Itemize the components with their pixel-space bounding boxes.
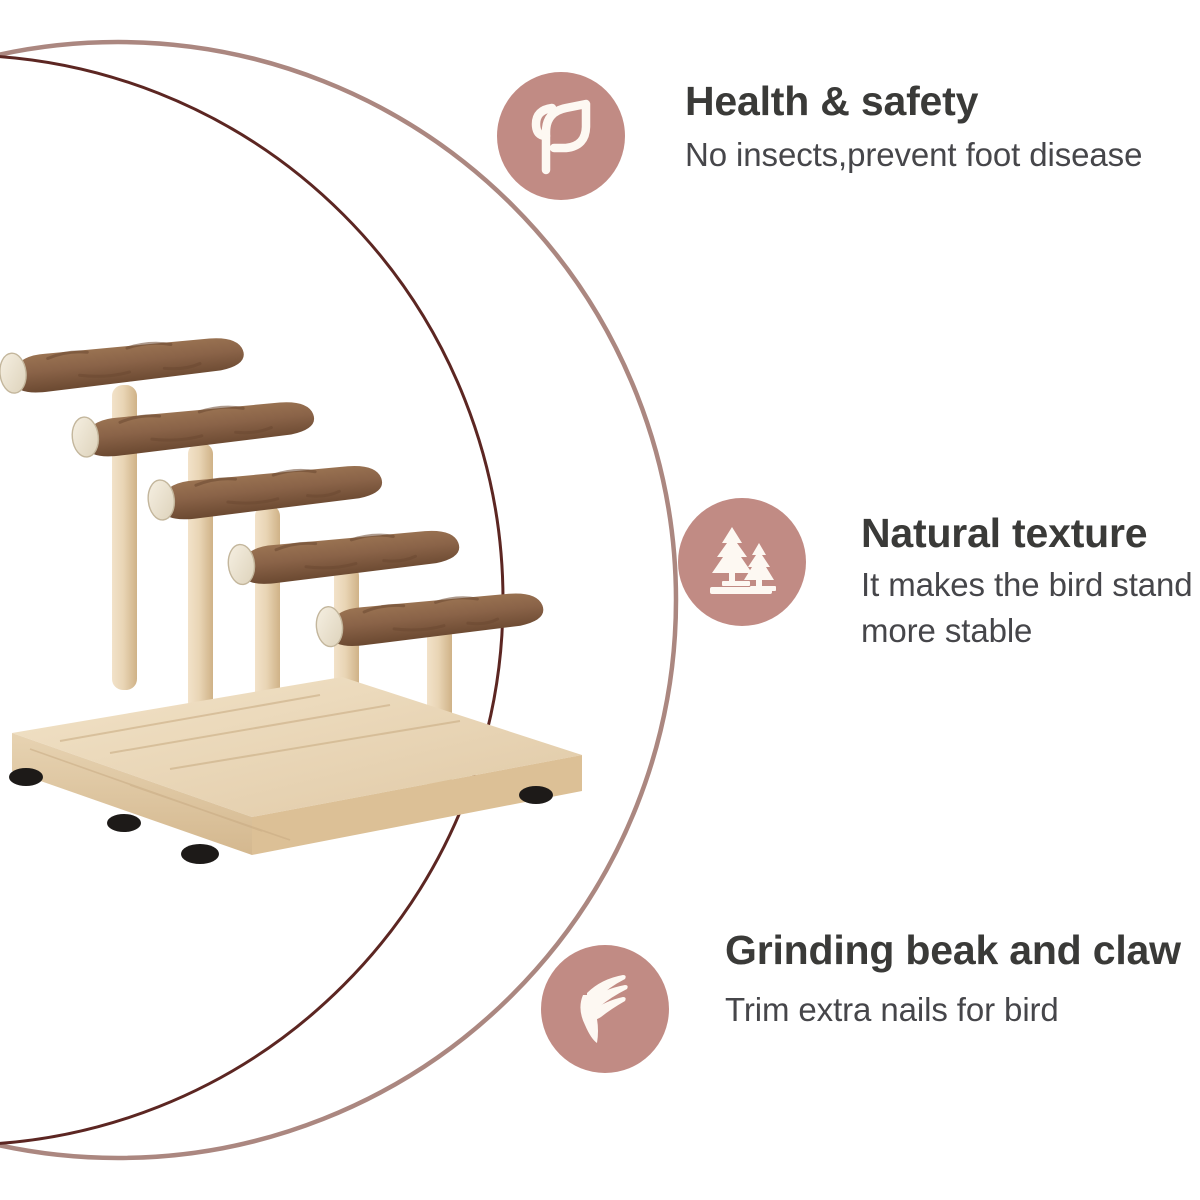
feature-description: No insects,prevent foot disease xyxy=(685,132,1142,178)
feature-title: Health & safety xyxy=(685,76,1142,126)
product-image xyxy=(0,325,600,870)
feature-text-block: Natural texture It makes the bird stand … xyxy=(861,508,1200,654)
bird-claw-icon xyxy=(567,969,643,1049)
rubber-foot xyxy=(181,844,219,864)
leaf-icon-badge xyxy=(497,72,625,200)
bird-claw-icon-badge xyxy=(541,945,669,1073)
feature-description: Trim extra nails for bird xyxy=(725,987,1181,1033)
feature-text-block: Grinding beak and claw Trim extra nails … xyxy=(725,925,1181,1033)
rubber-foot xyxy=(107,814,141,832)
feature-text-block: Health & safety No insects,prevent foot … xyxy=(685,76,1142,178)
pine-trees-icon xyxy=(702,523,782,601)
feature-natural-texture: Natural texture It makes the bird stand … xyxy=(678,498,1200,654)
rubber-foot xyxy=(519,786,553,804)
rubber-foot xyxy=(9,768,43,786)
base-board xyxy=(12,677,582,855)
feature-health-and-safety: Health & safety No insects,prevent foot … xyxy=(497,72,1142,200)
infographic-canvas: Health & safety No insects,prevent foot … xyxy=(0,0,1200,1200)
feature-grinding-beak-and-claw: Grinding beak and claw Trim extra nails … xyxy=(541,925,1181,1073)
pine-trees-icon-badge xyxy=(678,498,806,626)
feature-description: It makes the bird stand more stable xyxy=(861,562,1200,654)
feature-title: Grinding beak and claw xyxy=(725,925,1181,975)
feature-title: Natural texture xyxy=(861,508,1200,558)
leaf-icon xyxy=(524,96,598,176)
